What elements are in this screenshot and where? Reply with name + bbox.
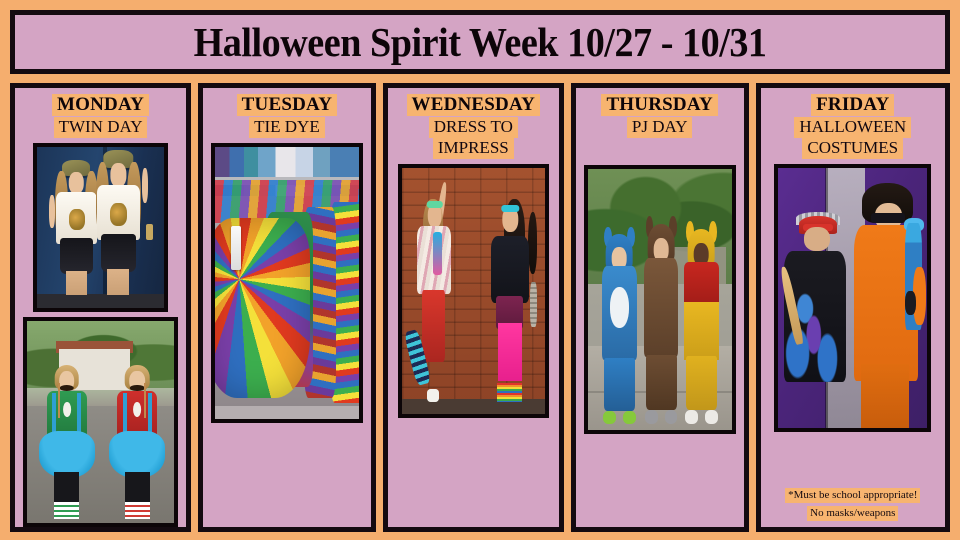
dress-to-impress-student-2	[485, 195, 536, 402]
friday-heading: FRIDAY HALLOWEEN COSTUMES	[761, 88, 945, 159]
day-name-thursday: THURSDAY	[601, 94, 717, 116]
friday-disclaimer: *Must be school appropriate! No masks/we…	[761, 485, 945, 527]
day-name-wednesday: WEDNESDAY	[407, 94, 541, 116]
monday-heading: MONDAY TWIN DAY	[15, 88, 186, 138]
thursday-photo-1	[584, 165, 736, 434]
monday-theme: TWIN DAY	[19, 117, 182, 138]
halloween-spirit-week-poster: Halloween Spirit Week 10/27 - 10/31 MOND…	[0, 0, 960, 540]
costume-student-orange	[850, 183, 927, 427]
monday-photo-1-image	[37, 147, 164, 308]
thursday-heading: THURSDAY PJ DAY	[576, 88, 744, 138]
friday-theme-line-1: HALLOWEEN	[794, 117, 911, 138]
friday-photo-1	[774, 164, 931, 432]
poster-title-banner: Halloween Spirit Week 10/27 - 10/31	[10, 10, 950, 74]
pj-student-brown-onesie	[640, 224, 683, 422]
wednesday-theme-line-2: IMPRESS	[433, 138, 514, 159]
tuesday-photo-1-image	[215, 147, 359, 419]
friday-photos	[761, 159, 945, 432]
friday-note-line-2: No masks/weapons	[807, 506, 898, 521]
wednesday-theme-line-1: DRESS TO	[429, 117, 518, 138]
day-column-monday: MONDAY TWIN DAY	[10, 83, 191, 532]
friday-note-line-1: *Must be school appropriate!	[785, 488, 920, 503]
day-name-monday: MONDAY	[52, 94, 149, 116]
day-column-thursday: THURSDAY PJ DAY	[571, 83, 749, 532]
page-title: Halloween Spirit Week 10/27 - 10/31	[194, 22, 767, 63]
day-column-wednesday: WEDNESDAY DRESS TO IMPRESS	[383, 83, 564, 532]
wednesday-theme: DRESS TO IMPRESS	[392, 117, 555, 158]
tuesday-photos	[203, 138, 371, 527]
day-name-friday: FRIDAY	[811, 94, 894, 116]
mario-costume-student	[39, 361, 95, 519]
thursday-theme-line-1: PJ DAY	[627, 117, 693, 138]
friday-theme: HALLOWEEN COSTUMES	[765, 117, 941, 158]
monday-photo-2-image	[27, 321, 174, 523]
monday-photo-1	[33, 143, 168, 312]
twin-student-2	[93, 150, 144, 295]
tuesday-heading: TUESDAY TIE DYE	[203, 88, 371, 138]
day-name-tuesday: TUESDAY	[237, 94, 337, 116]
day-column-tuesday: TUESDAY TIE DYE	[198, 83, 376, 532]
wednesday-photo-1	[398, 164, 548, 418]
monday-theme-line-1: TWIN DAY	[54, 117, 148, 138]
tuesday-theme-line-1: TIE DYE	[249, 117, 325, 138]
thursday-photos	[576, 138, 744, 527]
thursday-photo-1-image	[588, 169, 732, 430]
friday-theme-line-2: COSTUMES	[802, 138, 903, 159]
costume-student-flames	[781, 209, 852, 427]
pj-student-pooh-onesie	[680, 229, 723, 422]
day-column-friday: FRIDAY HALLOWEEN COSTUMES	[756, 83, 950, 532]
tuesday-theme: TIE DYE	[207, 117, 367, 138]
monday-photos	[15, 138, 186, 527]
friday-photo-1-image	[778, 168, 927, 428]
thursday-theme: PJ DAY	[580, 117, 740, 138]
wednesday-photo-1-image	[402, 168, 544, 414]
day-columns: MONDAY TWIN DAY	[10, 83, 950, 532]
dress-to-impress-student-1	[411, 190, 459, 402]
monday-photo-2	[23, 317, 178, 527]
wednesday-heading: WEDNESDAY DRESS TO IMPRESS	[388, 88, 559, 159]
luigi-costume-student	[109, 361, 165, 519]
wednesday-photos	[388, 159, 559, 527]
pj-student-blue-onesie	[598, 234, 641, 422]
tuesday-photo-1	[211, 143, 363, 423]
